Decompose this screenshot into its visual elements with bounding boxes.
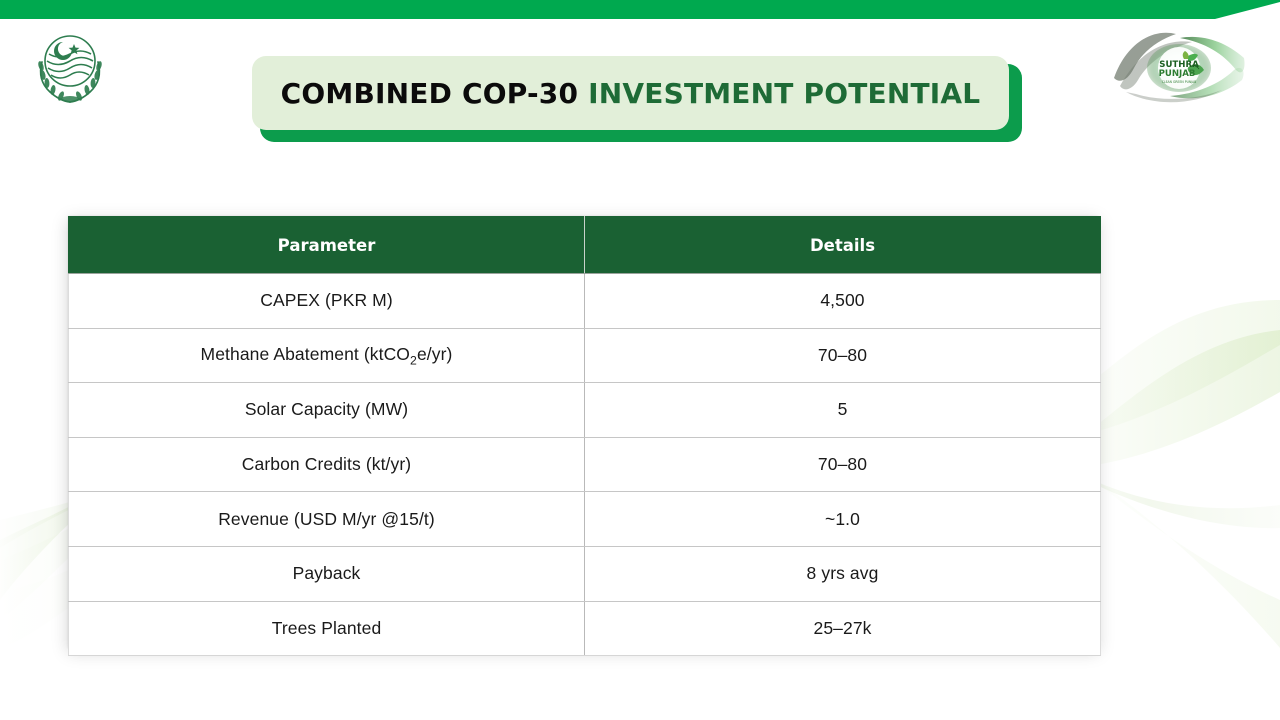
- page-title-plain: COMBINED COP-30: [281, 77, 588, 110]
- table-row: Revenue (USD M/yr @15/t) ~1.0: [69, 492, 1101, 547]
- slide-title-banner: COMBINED COP-30 INVESTMENT POTENTIAL: [252, 56, 1022, 142]
- suthra-punjab-logo: SUTHRA PUNJAB CLEAN GREEN PUNJAB: [1104, 18, 1254, 114]
- cell-parameter: Methane Abatement (ktCO2e/yr): [69, 328, 585, 383]
- cell-parameter: Revenue (USD M/yr @15/t): [69, 492, 585, 547]
- column-header-details: Details: [585, 217, 1101, 274]
- table-row: CAPEX (PKR M) 4,500: [69, 274, 1101, 329]
- table-row: Solar Capacity (MW) 5: [69, 383, 1101, 438]
- cell-parameter-post: e/yr): [417, 344, 453, 364]
- cell-parameter-pre: Methane Abatement (ktCO: [201, 344, 411, 364]
- logo-tagline: CLEAN GREEN PUNJAB: [1162, 80, 1197, 84]
- table-row: Methane Abatement (ktCO2e/yr) 70–80: [69, 328, 1101, 383]
- government-of-punjab-emblem: [22, 26, 118, 110]
- cell-details: 25–27k: [585, 601, 1101, 656]
- title-banner-plate: COMBINED COP-30 INVESTMENT POTENTIAL: [252, 56, 1009, 130]
- cell-details: 8 yrs avg: [585, 546, 1101, 601]
- cell-parameter: Payback: [69, 546, 585, 601]
- table-header-row: Parameter Details: [69, 217, 1101, 274]
- cell-parameter: Carbon Credits (kt/yr): [69, 437, 585, 492]
- cell-details: 70–80: [585, 437, 1101, 492]
- cell-parameter: Solar Capacity (MW): [69, 383, 585, 438]
- cell-details: 4,500: [585, 274, 1101, 329]
- page-title-accent: INVESTMENT POTENTIAL: [588, 77, 980, 110]
- page-title: COMBINED COP-30 INVESTMENT POTENTIAL: [281, 77, 981, 110]
- table-row: Trees Planted 25–27k: [69, 601, 1101, 656]
- top-accent-bar: [0, 0, 1280, 19]
- table-body: CAPEX (PKR M) 4,500 Methane Abatement (k…: [69, 274, 1101, 656]
- punjab-wordmark: PUNJAB: [1159, 69, 1196, 79]
- cell-details: 70–80: [585, 328, 1101, 383]
- cell-details: ~1.0: [585, 492, 1101, 547]
- column-header-parameter: Parameter: [69, 217, 585, 274]
- table-row: Carbon Credits (kt/yr) 70–80: [69, 437, 1101, 492]
- investment-potential-table: Parameter Details CAPEX (PKR M) 4,500 Me…: [68, 216, 1101, 656]
- cell-parameter: CAPEX (PKR M): [69, 274, 585, 329]
- table-row: Payback 8 yrs avg: [69, 546, 1101, 601]
- cell-parameter-subscript: 2: [410, 353, 417, 367]
- cell-details: 5: [585, 383, 1101, 438]
- cell-parameter: Trees Planted: [69, 601, 585, 656]
- table-head: Parameter Details: [69, 217, 1101, 274]
